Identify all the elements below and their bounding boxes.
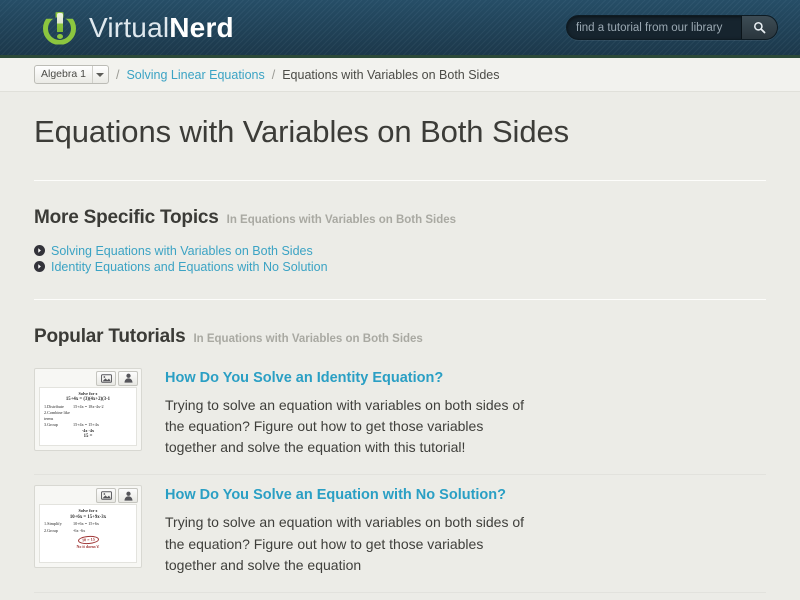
topic-link[interactable]: Identity Equations and Equations with No… xyxy=(51,260,328,274)
thumbnail-badges xyxy=(96,488,138,503)
thumb-step-label: 2.Combine like terms xyxy=(44,410,70,422)
breadcrumb-separator-1: / xyxy=(116,68,119,82)
search-input[interactable] xyxy=(567,16,741,39)
thumb-step-expr: 15+4x = 18x-4x-2 xyxy=(73,404,132,410)
search-icon xyxy=(753,21,766,34)
thumbnail-image: Solve for x 15+4x = (3)(4x+2)(3-1 1.Dist… xyxy=(39,387,137,446)
tutorial-body: How Do You Solve an Equation with No Sol… xyxy=(165,485,766,576)
tutorial-title-link[interactable]: How Do You Solve an Identity Equation? xyxy=(165,370,766,395)
list-item: Solve for x 15+4x = (3)(4x+2)(3-1 1.Dist… xyxy=(34,364,766,476)
image-icon xyxy=(101,491,112,500)
course-select-button[interactable]: Algebra 1 xyxy=(34,65,109,84)
topic-list: Solving Equations with Variables on Both… xyxy=(34,243,766,275)
page-title: Equations with Variables on Both Sides xyxy=(34,92,766,180)
thumb-step-expr: -6x -6x xyxy=(73,528,132,534)
thumb-step-label: 3.Group xyxy=(44,422,70,428)
image-icon-button[interactable] xyxy=(96,488,116,503)
thumbnail-equation-art: Solve for x 15+4x = (3)(4x+2)(3-1 1.Dist… xyxy=(40,388,136,445)
list-item[interactable]: Identity Equations and Equations with No… xyxy=(34,259,766,275)
image-icon xyxy=(101,374,112,383)
popular-tutorials-section: Popular Tutorials In Equations with Vari… xyxy=(34,300,766,594)
tutorial-list: Solve for x 15+4x = (3)(4x+2)(3-1 1.Dist… xyxy=(34,364,766,594)
thumb-tail-2: No it doesn't! xyxy=(44,544,132,550)
tutorial-thumbnail[interactable]: Solve for x 15+4x = (3)(4x+2)(3-1 1.Dist… xyxy=(34,368,142,451)
popular-tutorials-subheading: In Equations with Variables on Both Side… xyxy=(193,333,422,345)
thumb-step: 2.Combine like terms xyxy=(44,410,132,422)
brand-wordmark: VirtualNerd xyxy=(89,14,234,42)
breadcrumb-parent-link[interactable]: Solving Linear Equations xyxy=(126,68,264,82)
search-form xyxy=(566,15,778,40)
chevron-down-icon xyxy=(92,66,108,83)
image-icon-button[interactable] xyxy=(96,371,116,386)
arrow-circle-icon xyxy=(34,261,45,272)
topic-link[interactable]: Solving Equations with Variables on Both… xyxy=(51,244,313,258)
tutorial-thumbnail[interactable]: Solve for x 10+6x = 15+9x-3x 1.Simplify … xyxy=(34,485,142,568)
tutorial-body: How Do You Solve an Identity Equation? T… xyxy=(165,368,766,459)
tutorial-description: Trying to solve an equation with variabl… xyxy=(165,512,537,576)
list-item: Solve for x 10+6x = 15+9x-3x 1.Simplify … xyxy=(34,475,766,593)
popular-tutorials-heading-row: Popular Tutorials In Equations with Vari… xyxy=(34,326,766,362)
thumb-step: 2.Group -6x -6x xyxy=(44,528,132,534)
list-item[interactable]: Solving Equations with Variables on Both… xyxy=(34,243,766,259)
course-select-label: Algebra 1 xyxy=(35,66,92,83)
person-icon xyxy=(124,491,133,501)
main-content: Equations with Variables on Both Sides M… xyxy=(0,92,800,593)
brand-text-nerd: Nerd xyxy=(169,12,234,43)
person-icon-button[interactable] xyxy=(118,488,138,503)
tutorial-description: Trying to solve an equation with variabl… xyxy=(165,395,537,459)
arrow-circle-icon xyxy=(34,245,45,256)
site-header: VirtualNerd xyxy=(0,0,800,58)
breadcrumb-current: Equations with Variables on Both Sides xyxy=(282,68,499,82)
breadcrumb-separator-2: / xyxy=(272,68,275,82)
more-topics-heading: More Specific Topics xyxy=(34,207,219,229)
power-pencil-logo-icon xyxy=(42,10,78,46)
person-icon-button[interactable] xyxy=(118,371,138,386)
brand-logo-link[interactable]: VirtualNerd xyxy=(42,10,234,46)
thumb-step-label: 2.Group xyxy=(44,528,70,534)
thumb-tail-2: 15 = xyxy=(44,434,132,441)
thumb-equation: 15+4x = (3)(4x+2)(3-1 xyxy=(44,397,132,404)
more-specific-topics-section: More Specific Topics In Equations with V… xyxy=(34,181,766,275)
search-button[interactable] xyxy=(741,16,777,39)
thumb-tail-1: 10 = 15 xyxy=(44,536,132,544)
thumbnail-badges xyxy=(96,371,138,386)
popular-tutorials-heading: Popular Tutorials xyxy=(34,326,185,348)
brand-text-virtual: Virtual xyxy=(89,12,169,43)
tutorial-title-link[interactable]: How Do You Solve an Equation with No Sol… xyxy=(165,487,766,512)
thumbnail-image: Solve for x 10+6x = 15+9x-3x 1.Simplify … xyxy=(39,504,137,563)
more-topics-heading-row: More Specific Topics In Equations with V… xyxy=(34,207,766,243)
breadcrumb: Algebra 1 / Solving Linear Equations / E… xyxy=(0,58,800,92)
more-topics-subheading: In Equations with Variables on Both Side… xyxy=(227,214,456,226)
thumb-equation: 10+6x = 15+9x-3x xyxy=(44,515,132,522)
person-icon xyxy=(124,373,133,383)
thumbnail-equation-art: Solve for x 10+6x = 15+9x-3x 1.Simplify … xyxy=(40,505,136,562)
